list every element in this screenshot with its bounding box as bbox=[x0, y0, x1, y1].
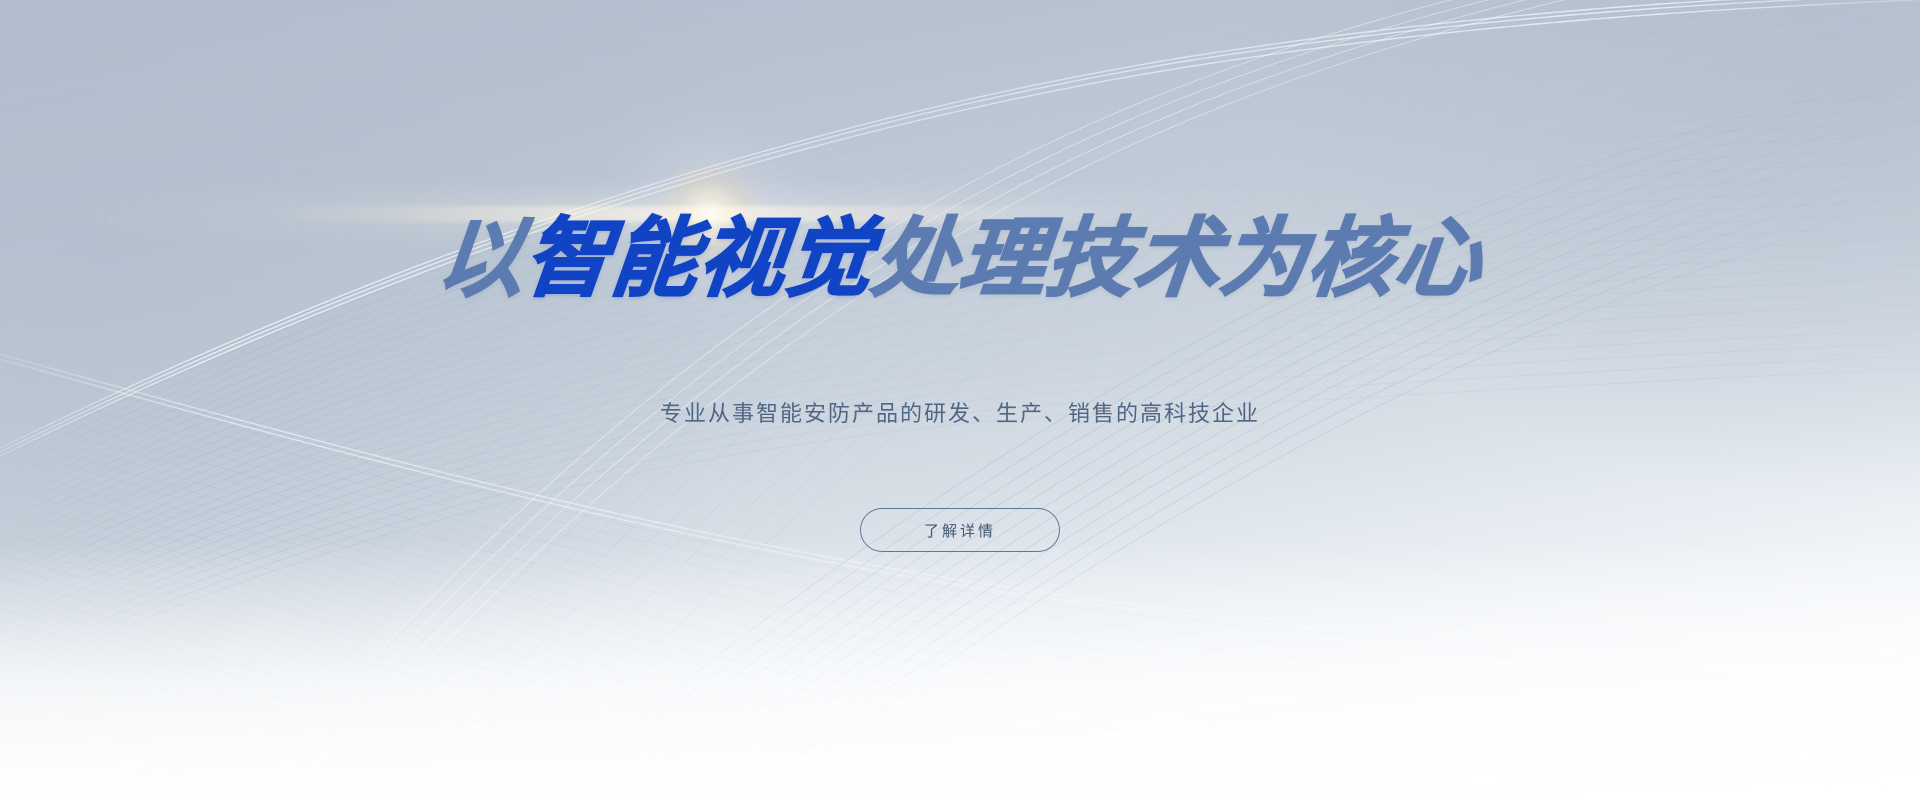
hero-content: 以智能视觉处理技术为核心 专业从事智能安防产品的研发、生产、销售的高科技企业 了… bbox=[0, 0, 1920, 800]
page-title-part-3: 处理技术为核心 bbox=[868, 211, 1487, 307]
page-subtitle: 专业从事智能安防产品的研发、生产、销售的高科技企业 bbox=[0, 396, 1920, 428]
hero-banner: 以智能视觉处理技术为核心 专业从事智能安防产品的研发、生产、销售的高科技企业 了… bbox=[0, 0, 1920, 800]
page-title-part-1: 以 bbox=[433, 211, 530, 307]
cta-container: 了解详情 bbox=[0, 508, 1920, 552]
page-title: 以智能视觉处理技术为核心 bbox=[0, 216, 1920, 302]
page-title-part-2: 智能视觉 bbox=[520, 211, 878, 307]
learn-more-button[interactable]: 了解详情 bbox=[860, 508, 1060, 552]
